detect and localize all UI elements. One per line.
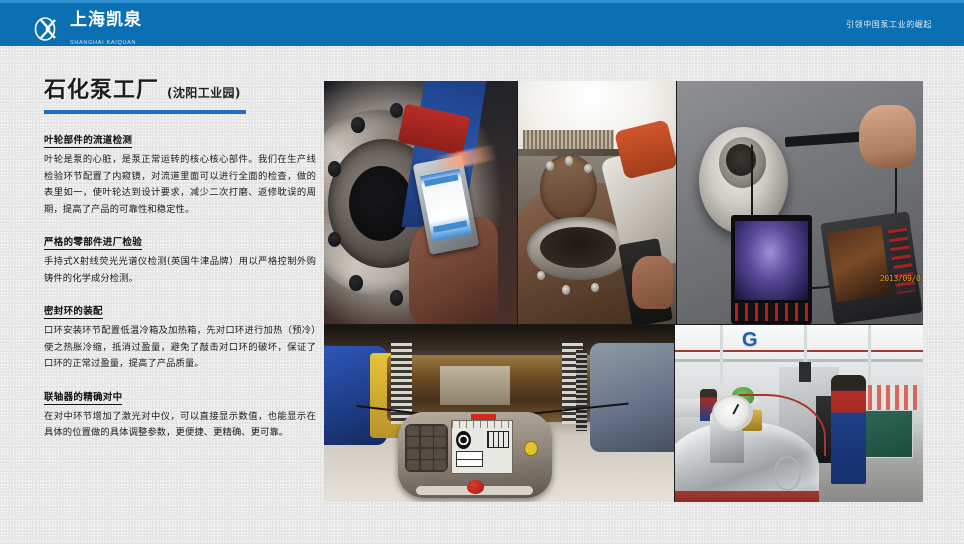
section-heading: 密封环的装配 <box>44 303 103 319</box>
factory-photo-grid: 2013/09/0 <box>324 81 923 502</box>
section-body: 口环安装环节配置低温冷箱及加热箱，先对口环进行加热（预冷）使之热胀冷缩，抵消过盈… <box>44 323 316 373</box>
section-body: 在对中环节增加了激光对中仪，可以直接显示数值，也能显示在具体的位置做的具体调整参… <box>44 409 316 442</box>
section-heading: 联轴器的精确对中 <box>44 389 122 405</box>
section-incoming-parts-inspection: 严格的零部件进厂检验 手持式X射线荧光光谱仪检测(英国牛津品牌）用以严格控制外购… <box>44 230 316 287</box>
page-title-sub: (沈阳工业园) <box>167 84 241 104</box>
photo-laser-shaft-alignment <box>324 325 674 502</box>
title-underline <box>44 110 246 114</box>
section-coupling-alignment: 联轴器的精确对中 在对中环节增加了激光对中仪，可以直接显示数值，也能显示在具体的… <box>44 385 316 442</box>
page-title-main: 石化泵工厂 <box>44 78 159 104</box>
borescope-timestamp-overlay: 2013/09/0 <box>880 274 921 283</box>
photo-xrf-analyzer-on-casing <box>518 81 676 324</box>
workshop-bay-letter: G <box>742 329 758 352</box>
content-text-column: 石化泵工厂 (沈阳工业园) 叶轮部件的流道检测 叶轮是泵的心脏，是泵正常运转的核… <box>44 78 316 454</box>
section-heading: 叶轮部件的流道检测 <box>44 132 132 148</box>
photo-row-bottom: G <box>324 325 923 502</box>
brand-name-en: SHANGHAI KAIQUAN <box>70 40 136 46</box>
section-seal-ring-assembly: 密封环的装配 口环安装环节配置低温冷箱及加热箱，先对口环进行加热（预冷）使之热胀… <box>44 299 316 373</box>
section-impeller-inspection: 叶轮部件的流道检测 叶轮是泵的心脏，是泵正常运转的核心核心部件。我们在生产线检验… <box>44 128 316 218</box>
section-heading: 严格的零部件进厂检验 <box>44 234 142 250</box>
photo-workshop-cryo-and-oven: G <box>675 325 923 502</box>
photo-row-top: 2013/09/0 <box>324 81 923 324</box>
page-title: 石化泵工厂 (沈阳工业园) <box>44 78 316 104</box>
brand-logo[interactable]: 上海凯泉 SHANGHAI KAIQUAN <box>33 10 142 48</box>
header-slogan: 引领中国泵工业的崛起 <box>846 19 932 30</box>
brand-name-cn: 上海凯泉 <box>70 10 142 30</box>
kaiquan-logo-icon <box>33 14 63 44</box>
photo-flange-handheld-inspection <box>324 81 517 324</box>
section-body: 手持式X射线荧光光谱仪检测(英国牛津品牌）用以严格控制外购铸件的化学成分检测。 <box>44 254 316 287</box>
section-body: 叶轮是泵的心脏，是泵正常运转的核心核心部件。我们在生产线检验环节配置了内窥镜，对… <box>44 152 316 218</box>
laser-alignment-device <box>398 412 552 499</box>
photo-borescope-impeller-inspection: 2013/09/0 <box>677 81 923 324</box>
header-bar: 上海凯泉 SHANGHAI KAIQUAN 引领中国泵工业的崛起 <box>0 0 964 46</box>
